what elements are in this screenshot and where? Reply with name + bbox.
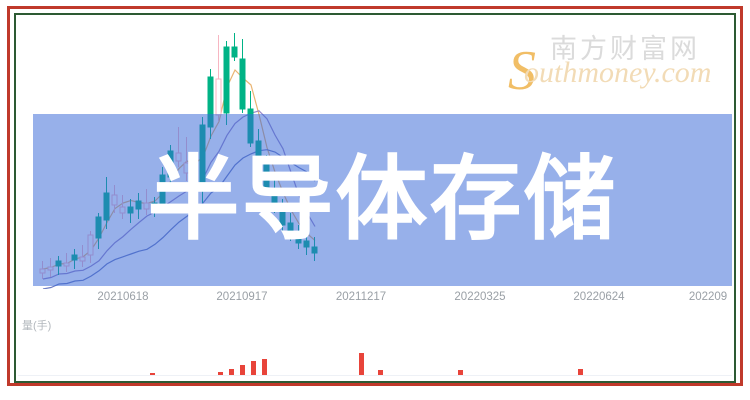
- volume-bar: [150, 373, 155, 375]
- volume-bar: [578, 369, 583, 375]
- volume-bars-svg: [18, 317, 732, 379]
- candlestick: [72, 249, 77, 269]
- candlestick: [88, 231, 93, 263]
- candlestick-svg: [18, 17, 732, 289]
- x-axis-label: 20210618: [97, 291, 148, 303]
- screenshot-root: 半导体存储 S 南方财富网 outhmoney.com 202106182021…: [0, 0, 750, 400]
- candlestick: [168, 145, 173, 189]
- candlestick: [56, 256, 61, 275]
- candlestick: [232, 33, 237, 61]
- x-axis-label: 20210917: [216, 291, 267, 303]
- candlestick: [40, 261, 45, 279]
- candlestick: [256, 129, 261, 169]
- volume-bar: [378, 370, 383, 375]
- candlestick: [48, 258, 53, 277]
- candlestick: [272, 177, 277, 213]
- x-axis-tick-labels: 2021061820210917202112172022032520220624…: [18, 291, 732, 313]
- x-axis-label: 20211217: [336, 291, 386, 303]
- candlestick: [288, 213, 293, 241]
- volume-bar: [240, 365, 245, 375]
- candlestick: [120, 195, 125, 219]
- candlestick: [176, 127, 181, 167]
- price-chart-pane: [18, 17, 732, 289]
- volume-bar: [458, 370, 463, 375]
- volume-bar: [359, 353, 364, 375]
- x-axis-label: 202209: [689, 291, 727, 303]
- candlestick: [312, 237, 317, 261]
- volume-bar: [262, 359, 267, 375]
- candlestick: [280, 199, 285, 231]
- candlestick: [240, 39, 245, 113]
- candlestick: [96, 213, 101, 249]
- volume-bar: [251, 361, 256, 375]
- candlestick: [248, 91, 253, 147]
- volume-bar: [229, 369, 234, 375]
- x-axis-label: 20220325: [454, 291, 505, 303]
- stock-chart-plate: 半导体存储 S 南方财富网 outhmoney.com 202106182021…: [18, 17, 732, 379]
- volume-bar: [218, 372, 223, 375]
- x-axis-label: 20220624: [573, 291, 624, 303]
- candlestick: [264, 155, 269, 195]
- candlestick: [200, 117, 205, 203]
- candlestick: [112, 185, 117, 213]
- candlestick: [224, 41, 229, 125]
- candlestick: [136, 193, 141, 219]
- candlestick: [184, 137, 189, 181]
- candlestick: [128, 199, 133, 223]
- candlestick: [208, 69, 213, 139]
- candlestick: [64, 253, 69, 272]
- candlestick: [144, 189, 149, 215]
- candlestick: [296, 225, 301, 249]
- candlestick: [216, 35, 221, 121]
- volume-chart-pane: 量(手): [18, 317, 732, 379]
